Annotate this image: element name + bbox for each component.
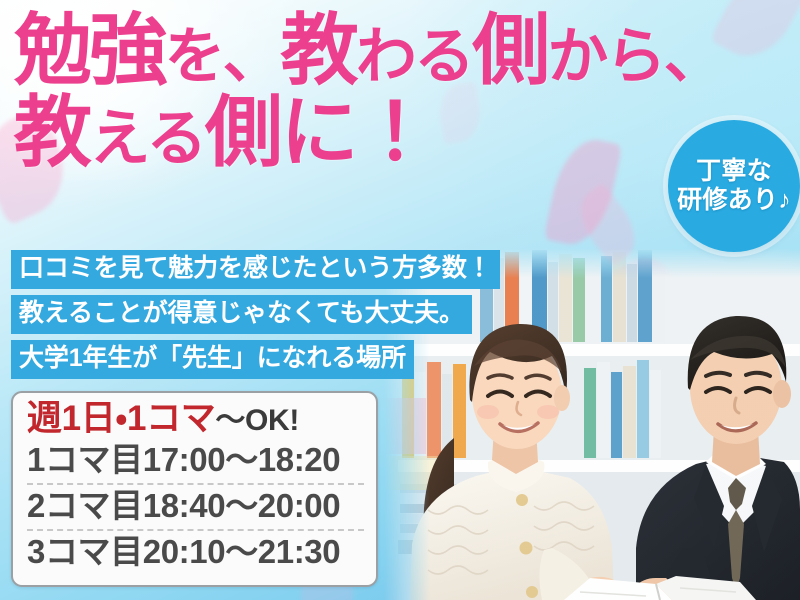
headline-line1-part-b: を、 (165, 22, 281, 90)
headline-line-2: 教える側に！ (14, 94, 674, 170)
headline-line2-part-b: える (90, 104, 205, 172)
schedule-row: 2コマ目18:40〜20:00 (27, 483, 364, 529)
headline-line2-part-c: 側に！ (205, 88, 432, 176)
headline-line1-part-e: 側 (472, 6, 547, 94)
recruitment-banner: 勉強を、教わる側から、 教える側に！ 丁寧な 研修あり♪ 口コミを見て魅力を感じ… (0, 0, 800, 600)
headline-line1-part-d: わる (356, 22, 472, 90)
schedule-row: 1コマ目17:00〜18:20 (27, 439, 364, 483)
training-badge: 丁寧な 研修あり♪ (668, 120, 800, 252)
schedule-headline-highlight: 週1日・1コマ (27, 399, 215, 438)
headline-line-1: 勉強を、教わる側から、 (14, 12, 674, 88)
highlight-bands: 口コミを見て魅力を感じたという方多数！ 教えることが得意じゃなくても大丈夫。 大… (11, 250, 500, 379)
schedule-headline: 週1日・1コマ〜OK! (27, 400, 364, 438)
petal-decoration-icon (710, 0, 800, 70)
highlight-band-3: 大学1年生が「先生」になれる場所 (11, 340, 414, 379)
training-badge-line-2: 研修あり♪ (677, 186, 791, 216)
headline: 勉強を、教わる側から、 教える側に！ (14, 12, 674, 171)
highlight-band-1: 口コミを見て魅力を感じたという方多数！ (11, 250, 500, 289)
training-badge-line-1: 丁寧な (696, 157, 772, 187)
schedule-box: 週1日・1コマ〜OK! 1コマ目17:00〜18:20 2コマ目18:40〜20… (11, 391, 378, 587)
headline-line1-part-f: から、 (548, 22, 722, 90)
highlight-band-row: 教えることが得意じゃなくても大丈夫。 (11, 295, 500, 334)
schedule-headline-tail: 〜OK! (215, 404, 299, 437)
highlight-band-row: 口コミを見て魅力を感じたという方多数！ (11, 250, 500, 289)
headline-line1-part-c: 教 (281, 6, 356, 94)
highlight-band-2: 教えることが得意じゃなくても大丈夫。 (11, 295, 472, 334)
headline-line2-part-a: 教 (14, 88, 90, 176)
schedule-rows: 1コマ目17:00〜18:20 2コマ目18:40〜20:00 3コマ目20:1… (27, 439, 364, 575)
headline-line1-part-a: 勉強 (14, 6, 165, 94)
highlight-band-row: 大学1年生が「先生」になれる場所 (11, 340, 500, 379)
schedule-row: 3コマ目20:10〜21:30 (27, 529, 364, 575)
